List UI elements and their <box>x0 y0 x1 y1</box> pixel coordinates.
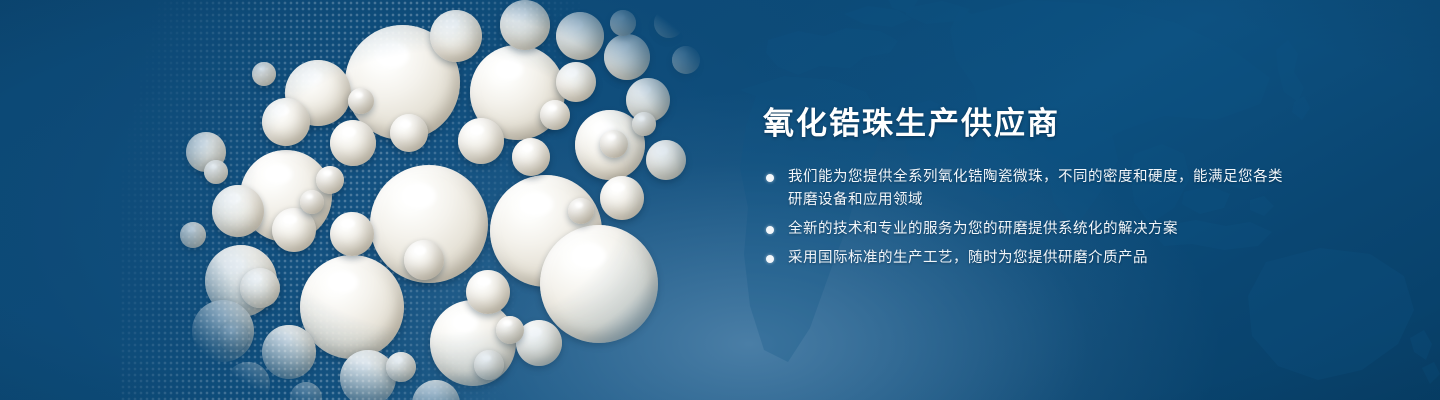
bullet-dot-icon <box>766 174 774 182</box>
bullet-dot-icon <box>766 226 774 234</box>
list-item-label: 全新的技术和专业的服务为您的研磨提供系统化的解决方案 <box>788 221 1178 237</box>
banner-headline: 氧化锆珠生产供应商 <box>763 104 1283 144</box>
bullet-dot-icon <box>766 255 774 263</box>
list-item-label: 采用国际标准的生产工艺，随时为您提供研磨介质产品 <box>788 250 1148 266</box>
list-item-label: 我们能为您提供全系列氧化锆陶瓷微珠，不同的密度和硬度，能满足您各类研磨设备和应用… <box>788 169 1283 208</box>
banner-copy: 氧化锆珠生产供应商 我们能为您提供全系列氧化锆陶瓷微珠，不同的密度和硬度，能满足… <box>763 104 1283 276</box>
banner-feature-list: 我们能为您提供全系列氧化锆陶瓷微珠，不同的密度和硬度，能满足您各类研磨设备和应用… <box>763 166 1283 270</box>
hero-banner: 氧化锆珠生产供应商 我们能为您提供全系列氧化锆陶瓷微珠，不同的密度和硬度，能满足… <box>0 0 1440 400</box>
list-item: 全新的技术和专业的服务为您的研磨提供系统化的解决方案 <box>763 218 1283 241</box>
list-item: 采用国际标准的生产工艺，随时为您提供研磨介质产品 <box>763 247 1283 270</box>
list-item: 我们能为您提供全系列氧化锆陶瓷微珠，不同的密度和硬度，能满足您各类研磨设备和应用… <box>763 166 1283 212</box>
